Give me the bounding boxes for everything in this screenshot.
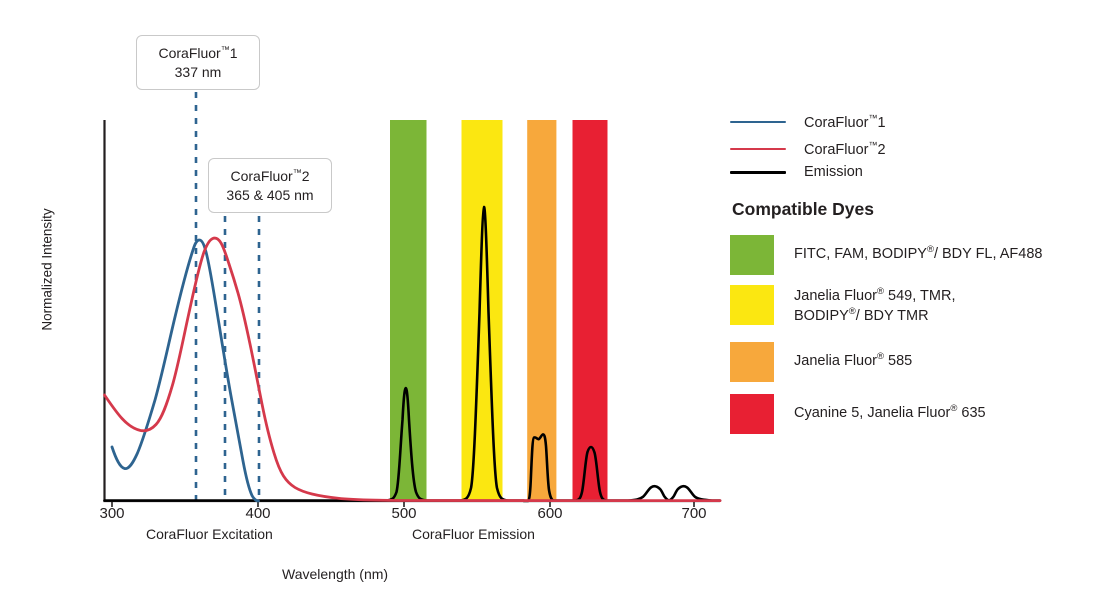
registered-icon: ® bbox=[877, 351, 884, 362]
dye-legend-label-orange: Janelia Fluor® 585 bbox=[794, 342, 912, 371]
x-tick-600: 600 bbox=[520, 505, 580, 522]
dye-legend-item-green: FITC, FAM, BODIPY®/ BDY FL, AF488 bbox=[730, 235, 1042, 275]
color-swatch-orange-icon bbox=[730, 342, 774, 382]
legend-panel: CoraFluor™1 CoraFluor™2 Emission Compati… bbox=[730, 0, 1110, 612]
chart-plot-area: Normalized Intensity 300 400 500 600 700… bbox=[0, 0, 730, 612]
line-swatch-icon bbox=[730, 148, 786, 151]
trademark-icon: ™ bbox=[221, 44, 230, 54]
compatible-dyes-title: Compatible Dyes bbox=[732, 199, 874, 220]
color-swatch-yellow-icon bbox=[730, 285, 774, 325]
dye-legend-label-red: Cyanine 5, Janelia Fluor® 635 bbox=[794, 394, 986, 423]
color-swatch-red-icon bbox=[730, 394, 774, 434]
legend-label-corafluor2: CoraFluor™2 bbox=[804, 140, 886, 158]
legend-label-emission: Emission bbox=[804, 164, 863, 180]
figure-root: Normalized Intensity 300 400 500 600 700… bbox=[0, 0, 1110, 612]
x-axis-sublabel-emission: CoraFluor Emission bbox=[412, 526, 535, 542]
dye-bands bbox=[390, 120, 608, 501]
dye-band-red bbox=[573, 120, 608, 501]
x-tick-300: 300 bbox=[82, 505, 142, 522]
registered-icon: ® bbox=[950, 403, 957, 414]
callout-corafluor2-line2: 365 & 405 nm bbox=[221, 186, 319, 205]
dye-legend-label-green: FITC, FAM, BODIPY®/ BDY FL, AF488 bbox=[794, 235, 1042, 264]
x-tick-400: 400 bbox=[228, 505, 288, 522]
dye-band-yellow bbox=[462, 120, 503, 501]
x-axis-title: Wavelength (nm) bbox=[282, 566, 388, 582]
callout-corafluor1-line1: CoraFluor™1 bbox=[158, 45, 237, 61]
dye-legend-item-yellow: Janelia Fluor® 549, TMR,BODIPY®/ BDY TMR bbox=[730, 285, 955, 327]
x-tick-500: 500 bbox=[374, 505, 434, 522]
legend-item-corafluor2: CoraFluor™2 bbox=[730, 140, 886, 158]
callout-corafluor2: CoraFluor™2 365 & 405 nm bbox=[208, 158, 332, 213]
y-axis-title: Normalized Intensity bbox=[40, 190, 55, 350]
legend-item-emission: Emission bbox=[730, 164, 863, 180]
dye-band-green bbox=[390, 120, 427, 501]
registered-icon: ® bbox=[849, 306, 856, 317]
registered-icon: ® bbox=[927, 244, 934, 255]
line-swatch-icon bbox=[730, 121, 786, 124]
dye-legend-item-red: Cyanine 5, Janelia Fluor® 635 bbox=[730, 394, 986, 434]
dye-legend-label-yellow: Janelia Fluor® 549, TMR,BODIPY®/ BDY TMR bbox=[794, 285, 955, 327]
x-axis-sublabel-excitation: CoraFluor Excitation bbox=[146, 526, 273, 542]
callout-corafluor1: CoraFluor™1 337 nm bbox=[136, 35, 260, 90]
registered-icon: ® bbox=[877, 286, 884, 297]
callout-corafluor2-line1: CoraFluor™2 bbox=[230, 168, 309, 184]
legend-label-corafluor1: CoraFluor™1 bbox=[804, 113, 886, 131]
trademark-icon: ™ bbox=[293, 167, 302, 177]
x-tick-700: 700 bbox=[664, 505, 724, 522]
dye-legend-item-orange: Janelia Fluor® 585 bbox=[730, 342, 912, 382]
callout-corafluor1-line2: 337 nm bbox=[149, 63, 247, 82]
series-corafluor1-path bbox=[112, 240, 259, 501]
legend-item-corafluor1: CoraFluor™1 bbox=[730, 113, 886, 131]
color-swatch-green-icon bbox=[730, 235, 774, 275]
line-swatch-icon bbox=[730, 171, 786, 174]
annotation-dashed-lines bbox=[196, 92, 259, 500]
